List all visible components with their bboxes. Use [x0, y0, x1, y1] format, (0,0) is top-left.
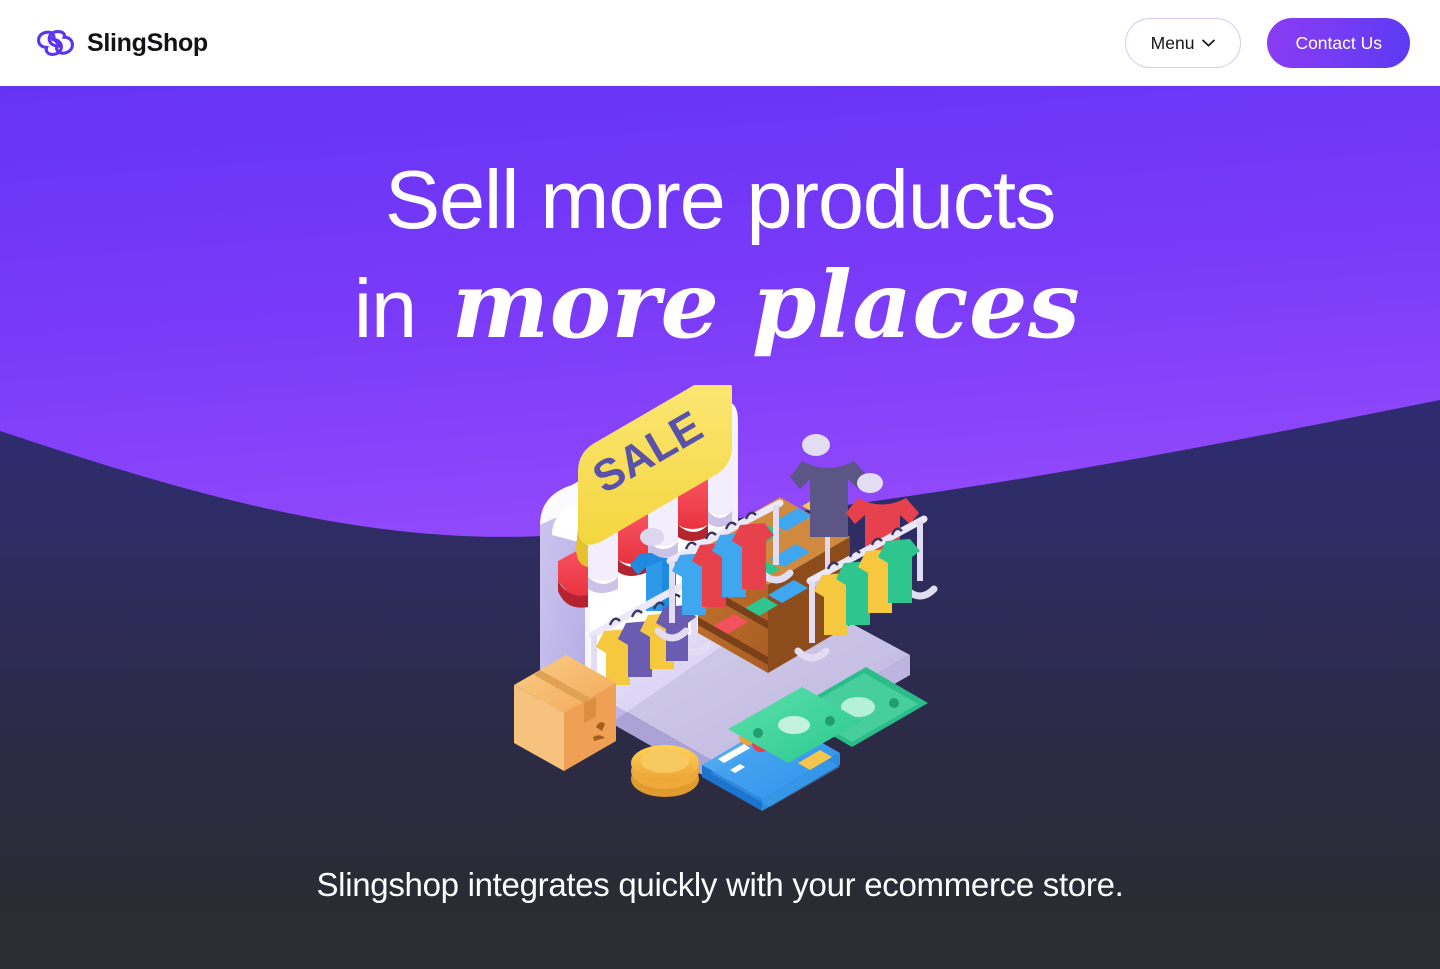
site-header: SlingShop Menu Contact Us — [0, 0, 1440, 86]
contact-us-label: Contact Us — [1295, 33, 1382, 54]
slingshop-logo-icon — [36, 26, 76, 60]
ecommerce-storefront-illustration: SALE — [480, 385, 950, 835]
brand-name: SlingShop — [87, 29, 208, 58]
menu-button-label: Menu — [1151, 33, 1195, 54]
header-actions: Menu Contact Us — [1125, 18, 1410, 68]
gold-coins — [631, 745, 699, 797]
menu-button[interactable]: Menu — [1125, 18, 1242, 68]
brand-logo[interactable]: SlingShop — [36, 26, 208, 60]
chevron-down-icon — [1202, 39, 1215, 47]
contact-us-button[interactable]: Contact Us — [1267, 18, 1410, 68]
